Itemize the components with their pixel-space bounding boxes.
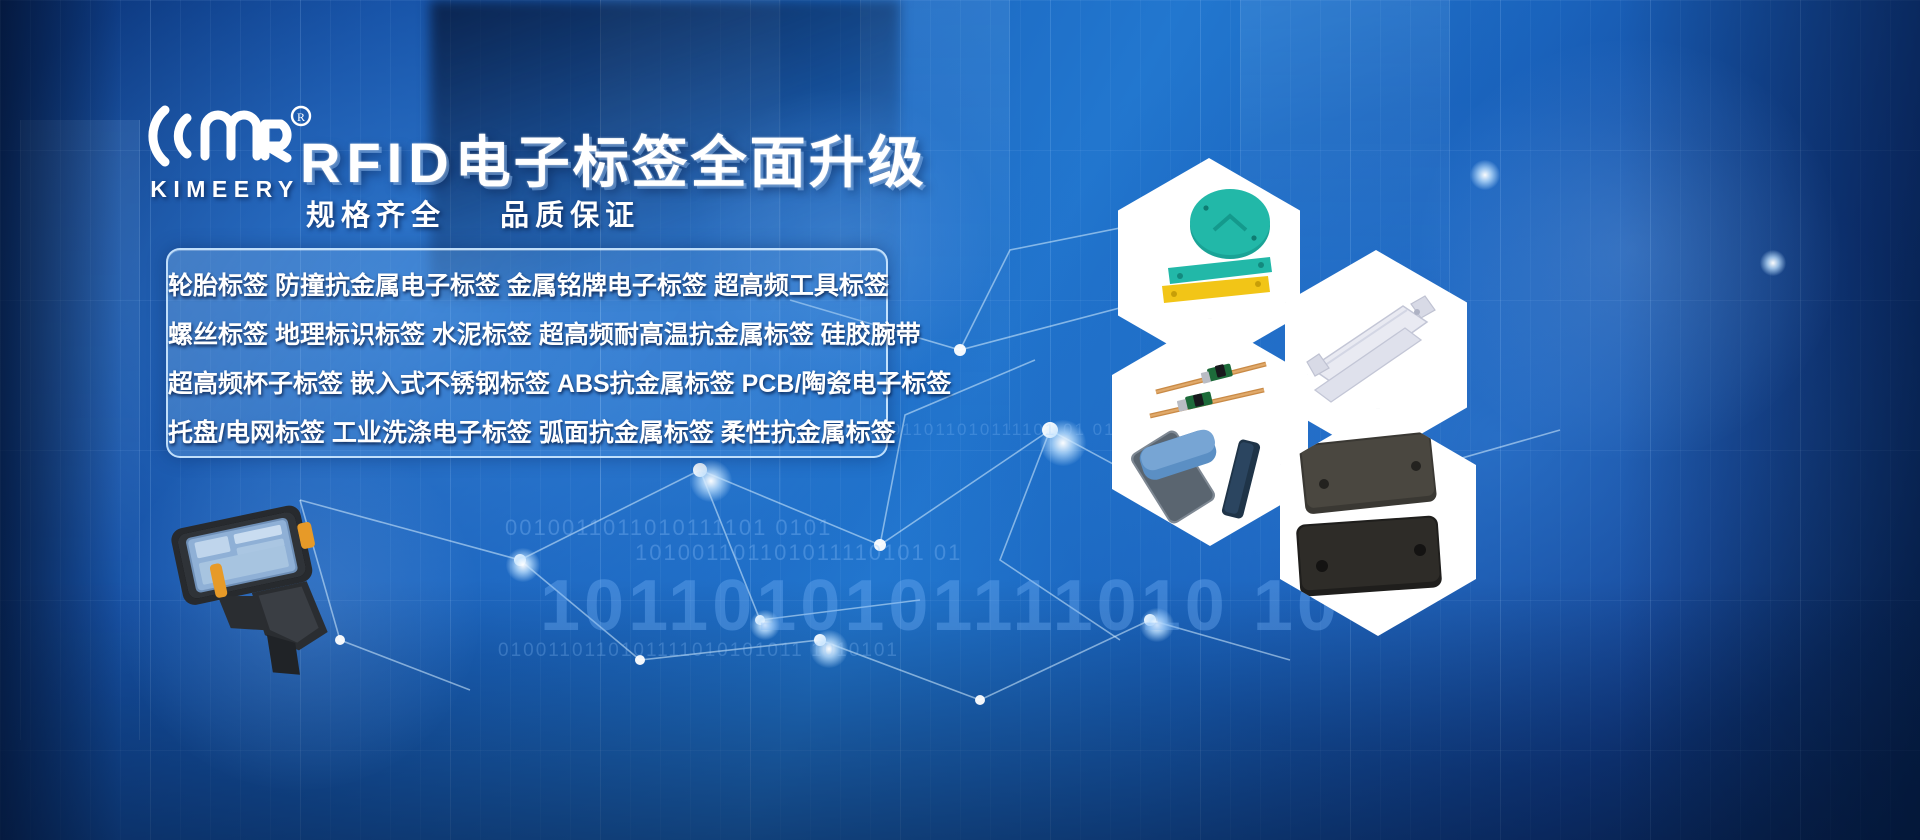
- rfid-handheld-reader: [160, 490, 410, 690]
- subtitle-left: 规格齐全: [306, 200, 446, 232]
- rfid-handheld-reader-art: [160, 490, 410, 690]
- product-tag-list-panel: 轮胎标签 防撞抗金属电子标签 金属铭牌电子标签 超高频工具标签 螺丝标签 地理标…: [166, 248, 888, 458]
- white-folded-tag: [1307, 296, 1435, 402]
- glow-dot-4: [506, 548, 540, 582]
- glow-dot-7: [1470, 160, 1500, 190]
- subtitle: 规格齐全 品质保证: [306, 192, 640, 234]
- teal-disc-tag: [1190, 189, 1270, 259]
- glow-dot-8: [1760, 250, 1786, 276]
- copper-screw-tag-b: [1150, 390, 1264, 416]
- rfid-promo-banner: 0010011011010111101 0101 101001101101011…: [0, 0, 1920, 840]
- dark-rect-tag-a: [1299, 431, 1438, 514]
- binary-decor-1: 0010011011010111101 0101: [505, 515, 832, 541]
- dark-bar-tag: [1221, 438, 1261, 519]
- tag-list-row: 螺丝标签 地理标识标签 水泥标签 超高频耐高温抗金属标签 硅胶腕带: [168, 311, 886, 360]
- subtitle-right: 品质保证: [500, 200, 640, 232]
- tag-list-row: 托盘/电网标签 工业洗涤电子标签 弧面抗金属标签 柔性抗金属标签: [168, 409, 886, 458]
- tag-list-row: 超高频杯子标签 嵌入式不锈钢标签 ABS抗金属标签 PCB/陶瓷电子标签: [168, 360, 886, 409]
- headline-chinese: 电子标签全面升级: [455, 131, 927, 194]
- headline-latin: RFID: [300, 131, 455, 194]
- copper-screw-tag-a: [1156, 363, 1266, 392]
- kimeery-signal-logo-icon: R: [135, 100, 315, 172]
- dark-rect-tag-b: [1296, 515, 1443, 597]
- brand-logo: R KIMEERY: [135, 100, 315, 203]
- brand-wordmark: KIMEERY: [135, 176, 315, 203]
- binary-decor-2: 101001101101011110101 01: [635, 540, 962, 566]
- tag-list-row: 轮胎标签 防撞抗金属电子标签 金属铭牌电子标签 超高频工具标签: [168, 262, 886, 311]
- binary-decor-large: 1011010101111010 10: [540, 565, 1341, 647]
- page-title: RFID电子标签全面升级: [300, 118, 927, 199]
- glow-dot-1: [690, 460, 732, 502]
